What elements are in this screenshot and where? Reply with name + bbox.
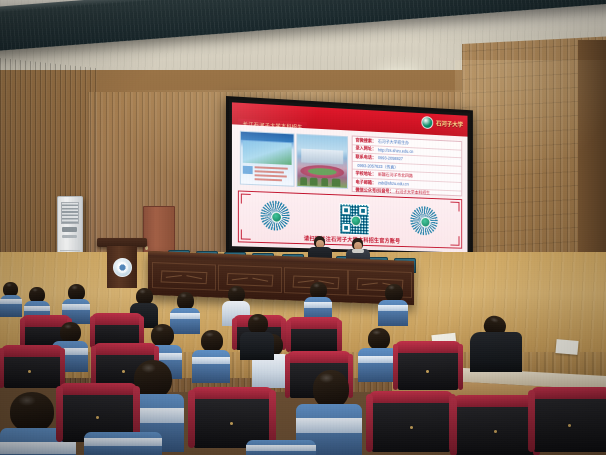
student-head (10, 392, 54, 432)
info-key: 电子邮箱： (355, 179, 376, 186)
auditorium-seat[interactable] (456, 398, 534, 455)
slide-logo: 石河子大学 (421, 116, 463, 131)
audience-student (246, 440, 316, 455)
student-torso (0, 295, 22, 317)
info-key: 官微搜索： (355, 137, 376, 144)
student-torso (246, 440, 316, 455)
website-text-line (255, 178, 282, 181)
campus-photo (296, 134, 348, 189)
auditorium-seat[interactable] (290, 320, 338, 352)
audience-student (378, 284, 408, 324)
campus-tree (300, 177, 307, 185)
auditorium-photo: 石河子大学 长江石河子大学本科招生 (0, 0, 606, 455)
ac-display-panel (62, 227, 77, 232)
website-text-line (255, 166, 288, 169)
audience-seating (0, 282, 606, 455)
slide-logo-text: 石河子大学 (436, 119, 463, 129)
audience-student (470, 316, 522, 370)
student-head (201, 330, 223, 352)
student-torso (358, 348, 398, 382)
auditorium-seat[interactable] (534, 390, 606, 452)
audience-student (240, 314, 274, 358)
qr-band-corner (450, 202, 459, 212)
auditorium-seat[interactable] (372, 394, 450, 452)
contact-info-panel: 官微搜索： 石河子大学招生办 录入网址： http://zs.shzu.edu.… (352, 135, 462, 196)
student-head (313, 370, 349, 408)
handout-paper (555, 339, 578, 355)
campus-building (301, 149, 343, 165)
audience-student (304, 282, 332, 320)
website-screenshot (240, 131, 295, 187)
qr-center-logo (420, 216, 430, 227)
qr-finder-pattern (358, 206, 367, 216)
student-head (248, 314, 268, 334)
website-hero-image (243, 141, 292, 165)
campus-tree (332, 178, 341, 186)
website-thumbnail (243, 166, 253, 174)
student-torso (240, 332, 274, 360)
ac-vent-grille (61, 202, 79, 224)
audience-student (84, 432, 162, 455)
qr-center-logo (350, 215, 360, 226)
qr-finder-pattern (341, 223, 350, 233)
info-key: 学校地址： (355, 171, 376, 178)
led-presentation-screen: 石河子大学 长江石河子大学本科招生 (226, 96, 473, 258)
info-key: 微信公众号/抖音号： (355, 188, 393, 195)
slide-body: 官微搜索： 石河子大学招生办 录入网址： http://zs.shzu.edu.… (232, 124, 468, 252)
admissions-qr-code[interactable] (410, 206, 437, 236)
qr-band-corner (241, 194, 251, 204)
slide-surface: 石河子大学 长江石河子大学本科招生 (232, 102, 468, 252)
school-crest-icon (113, 258, 132, 277)
campus-tree (321, 178, 328, 186)
student-head (60, 322, 81, 343)
audience-student (0, 282, 22, 316)
info-key: 录入网址： (355, 146, 376, 153)
qr-finder-pattern (341, 205, 350, 215)
audience-student (358, 328, 398, 380)
website-text-line (255, 174, 287, 177)
student-head (151, 324, 174, 347)
university-seal-icon (421, 116, 433, 129)
qr-center-logo (271, 211, 282, 222)
website-text-line (255, 170, 284, 173)
student-torso (470, 332, 522, 372)
speaker-collar (352, 249, 364, 253)
student-torso (192, 350, 230, 383)
audience-student (192, 330, 230, 380)
douyin-qr-code[interactable] (339, 203, 369, 235)
wechat-qr-code[interactable] (260, 200, 289, 231)
student-head (368, 328, 390, 350)
wall-light-glow (455, 60, 606, 180)
student-torso (84, 432, 162, 455)
info-key: 联系电话： (355, 154, 376, 161)
ac-button-row[interactable] (62, 235, 77, 238)
auditorium-seat[interactable] (4, 348, 60, 388)
campus-tree (310, 178, 318, 186)
auditorium-seat[interactable] (398, 344, 458, 390)
student-torso (378, 300, 408, 326)
